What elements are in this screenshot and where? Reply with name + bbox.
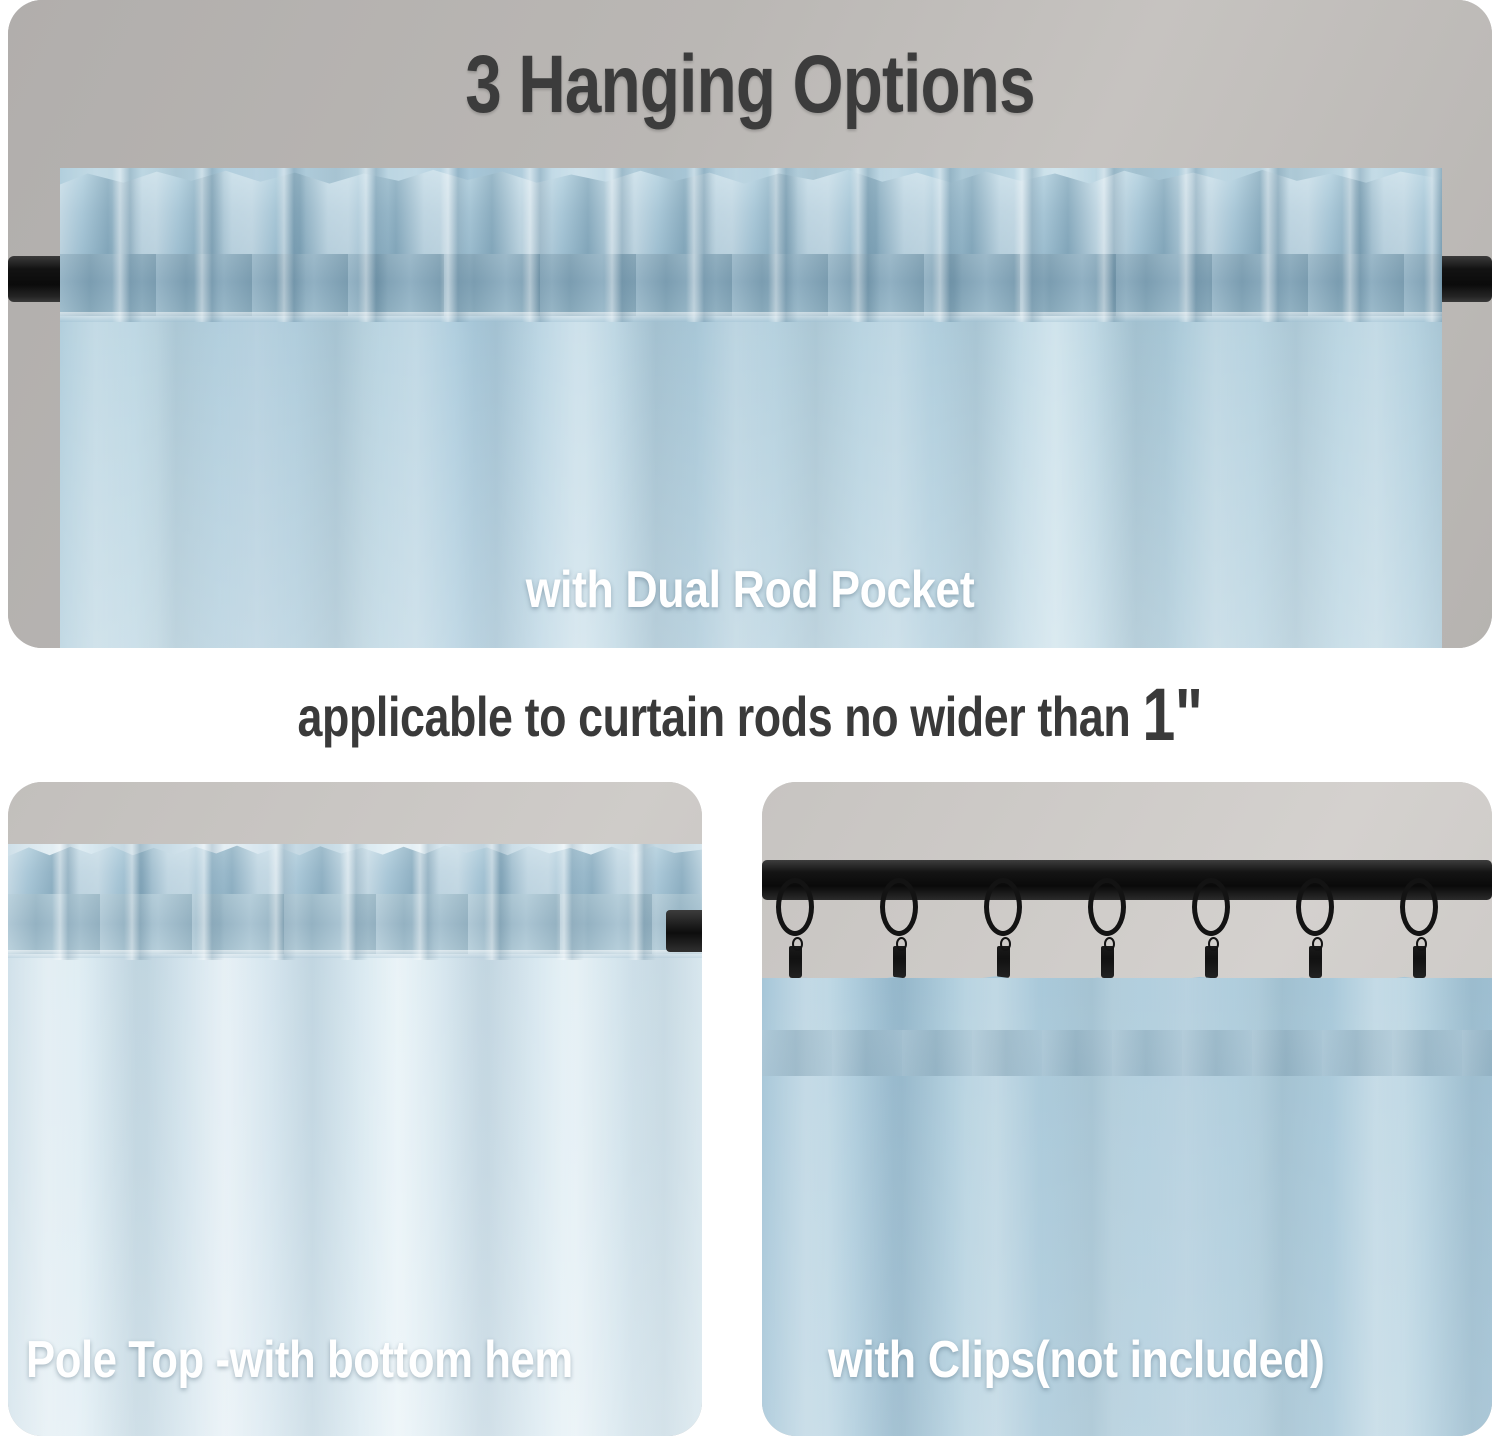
curtain-rod-end-icon <box>666 910 702 952</box>
rod-pocket-band <box>8 894 702 954</box>
curtain-clip-icon <box>1205 946 1218 978</box>
rod-pocket-seam <box>60 312 1442 322</box>
ruffle-header <box>8 844 702 900</box>
curtain-ring-icon <box>1400 878 1438 936</box>
ruffle-header <box>60 168 1442 260</box>
curtain-clip-icon <box>997 946 1010 978</box>
curtain-ring-icon <box>1088 878 1126 936</box>
curtain-ring-icon <box>1296 878 1334 936</box>
curtain-ring-icon <box>880 878 918 936</box>
subtitle-text: applicable to curtain rods no wider than… <box>150 672 1350 757</box>
curtain-clip-icon <box>1413 946 1426 978</box>
caption-clips: with Clips(not included) <box>828 1330 1324 1390</box>
fabric-seam-band <box>762 1030 1492 1076</box>
caption-pole-top: Pole Top -with bottom hem <box>26 1330 573 1390</box>
curtain-clip-icon <box>893 946 906 978</box>
curtain-ring-icon <box>984 878 1022 936</box>
subtitle-measurement: 1" <box>1142 673 1202 756</box>
page-title: 3 Hanging Options <box>156 38 1343 132</box>
curtain-ring-icon <box>776 878 814 936</box>
rod-pocket-band <box>60 254 1442 316</box>
curtain-ring-icon <box>1192 878 1230 936</box>
curtain-clip-icon <box>789 946 802 978</box>
curtain-clip-icon <box>1101 946 1114 978</box>
subtitle-label: applicable to curtain rods no wider than <box>297 685 1142 748</box>
curtain-clip-icon <box>1309 946 1322 978</box>
panel-dual-rod-pocket: 3 Hanging Options with Dual Rod Pocket <box>8 0 1492 648</box>
rod-pocket-seam <box>8 950 702 958</box>
caption-dual-rod-pocket: with Dual Rod Pocket <box>112 560 1388 620</box>
